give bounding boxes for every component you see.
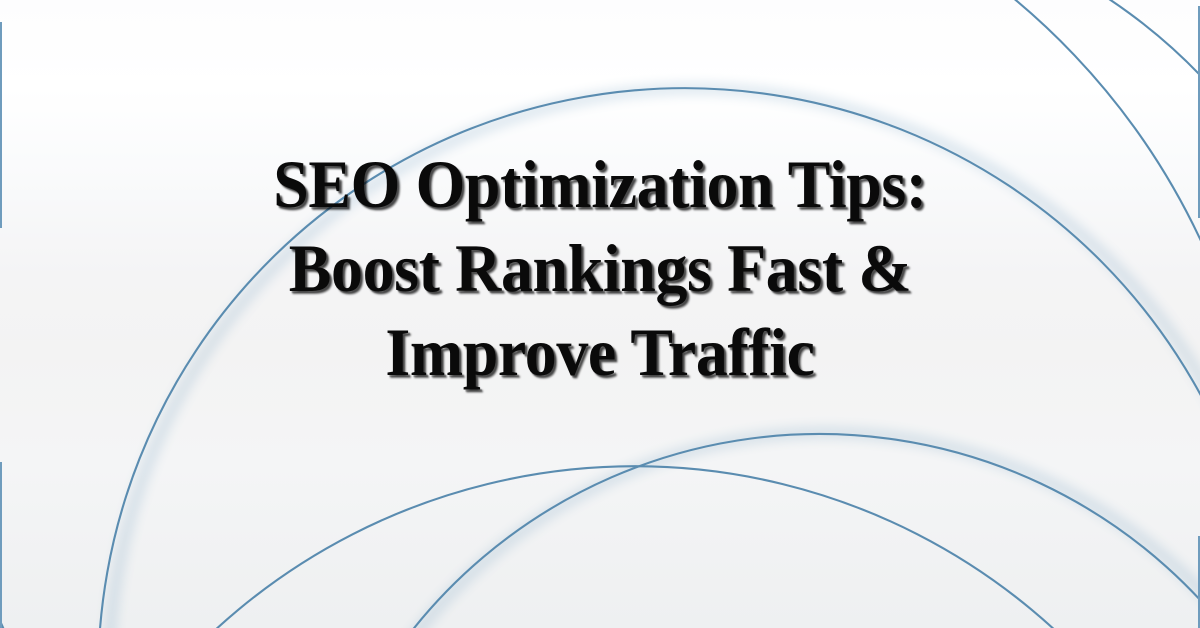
banner-title: SEO Optimization Tips: Boost Rankings Fa… [0,142,1200,394]
title-line-1: SEO Optimization Tips: [92,142,1107,226]
title-line-3: Improve Traffic [92,310,1107,394]
seo-title-banner: SEO Optimization Tips: Boost Rankings Fa… [0,0,1200,628]
title-line-2: Boost Rankings Fast & [92,226,1107,310]
